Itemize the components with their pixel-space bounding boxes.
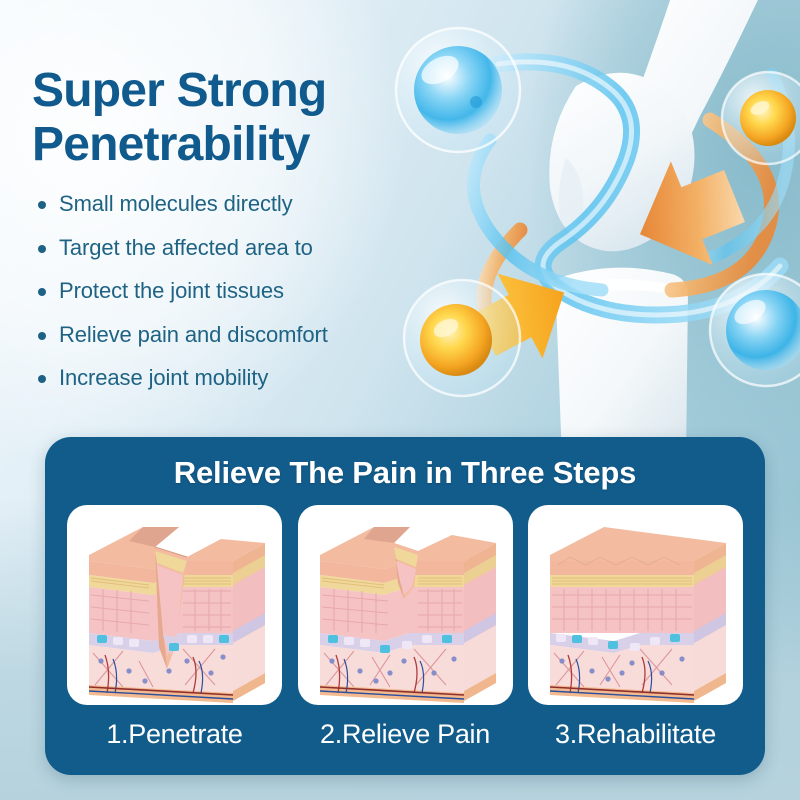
list-item: Protect the joint tissues	[34, 277, 434, 305]
bullet-label: Protect the joint tissues	[59, 277, 284, 305]
golden-molecule-bubble-top-right	[722, 72, 800, 164]
headline-line-1: Super Strong	[32, 64, 432, 118]
bullet-dot-icon	[38, 375, 46, 383]
step-caption-2: 2.Relieve Pain	[298, 719, 513, 761]
poster-canvas: Super Strong Penetrability Small molecul…	[0, 0, 800, 800]
knee-joint-hydration-illustration	[380, 0, 800, 450]
benefits-list: Small molecules directly Target the affe…	[34, 190, 434, 408]
bullet-label: Target the affected area to	[59, 234, 313, 262]
step-card-penetrate	[67, 505, 282, 705]
list-item: Relieve pain and discomfort	[34, 321, 434, 349]
step-captions: 1.Penetrate 2.Relieve Pain 3.Rehabilitat…	[67, 719, 743, 761]
bullet-label: Increase joint mobility	[59, 364, 268, 392]
page-title: Super Strong Penetrability	[32, 64, 432, 172]
headline-line-2: Penetrability	[32, 118, 432, 172]
skin-cross-section-deep-wound	[67, 505, 282, 705]
water-molecule-bubble-bottom-right	[710, 274, 800, 386]
list-item: Target the affected area to	[34, 234, 434, 262]
list-item: Increase joint mobility	[34, 364, 434, 392]
bullet-dot-icon	[38, 332, 46, 340]
step-caption-3: 3.Rehabilitate	[528, 719, 743, 761]
step-caption-1: 1.Penetrate	[67, 719, 282, 761]
skin-cross-section-healed	[528, 505, 743, 705]
step-cards	[67, 505, 743, 705]
skin-cross-section-shallow-wound	[298, 505, 513, 705]
three-steps-panel: Relieve The Pain in Three Steps	[45, 437, 765, 775]
bullet-dot-icon	[38, 288, 46, 296]
bullet-dot-icon	[38, 201, 46, 209]
panel-title: Relieve The Pain in Three Steps	[45, 455, 765, 491]
bullet-dot-icon	[38, 245, 46, 253]
step-card-relieve-pain	[298, 505, 513, 705]
bullet-label: Relieve pain and discomfort	[59, 321, 328, 349]
bullet-label: Small molecules directly	[59, 190, 293, 218]
list-item: Small molecules directly	[34, 190, 434, 218]
step-card-rehabilitate	[528, 505, 743, 705]
